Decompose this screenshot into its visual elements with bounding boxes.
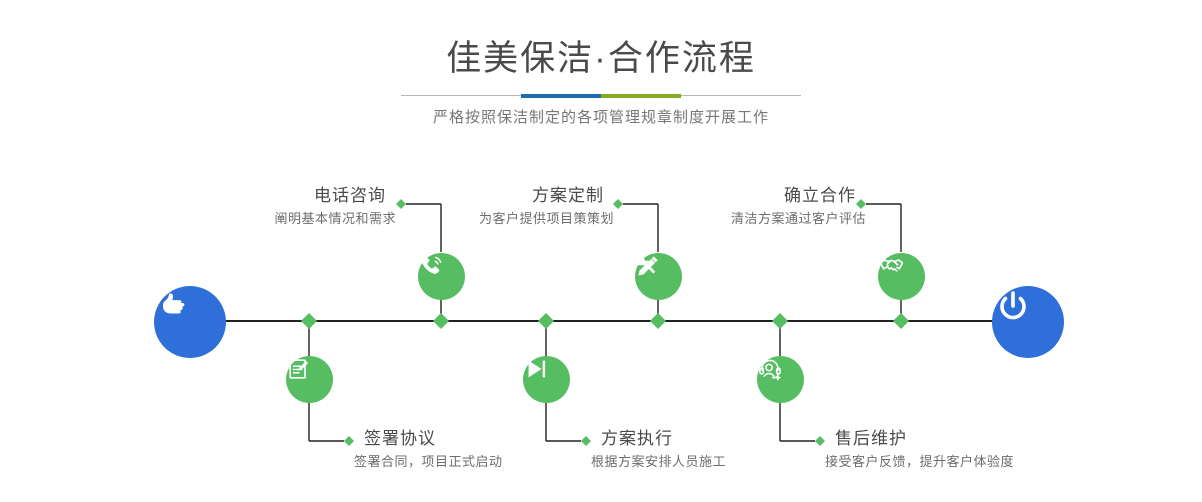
step-label-6: 售后维护 接受客户反馈，提升客户体验度 bbox=[825, 427, 1014, 473]
flow-start-node[interactable] bbox=[154, 286, 226, 358]
timeline-diamond-4 bbox=[538, 313, 554, 329]
step-label-2: 签署协议 签署合同，项目正式启动 bbox=[354, 427, 503, 473]
step-icon-1[interactable] bbox=[418, 253, 465, 300]
step-icon-3[interactable] bbox=[635, 253, 682, 300]
flow-end-node[interactable] bbox=[992, 286, 1064, 358]
step-title-3: 方案定制 bbox=[479, 184, 614, 208]
timeline-diamond-5 bbox=[893, 313, 909, 329]
step-label-4: 方案执行 根据方案安排人员施工 bbox=[591, 427, 726, 473]
step-desc-6: 接受客户反馈，提升客户体验度 bbox=[825, 451, 1014, 473]
timeline-diamond-6 bbox=[772, 313, 788, 329]
process-flow-diagram: 电话咨询 阐明基本情况和需求 签署协议 签署合同，项目正式启动 bbox=[0, 0, 1202, 502]
step-desc-5: 清洁方案通过客户评估 bbox=[731, 208, 866, 230]
label-diamond-step-2 bbox=[344, 436, 354, 446]
timeline-diamond-2 bbox=[301, 313, 317, 329]
step-title-6: 售后维护 bbox=[825, 427, 1014, 451]
timeline-diamond-1 bbox=[433, 313, 449, 329]
step-title-1: 电话咨询 bbox=[274, 184, 396, 208]
label-diamond-step-6 bbox=[815, 436, 825, 446]
step-label-5: 确立合作 清洁方案通过客户评估 bbox=[731, 184, 866, 230]
label-diamond-markers bbox=[344, 199, 866, 446]
step-desc-4: 根据方案安排人员施工 bbox=[591, 451, 726, 473]
step-title-5: 确立合作 bbox=[731, 184, 866, 208]
label-diamond-step-4 bbox=[581, 436, 591, 446]
timeline-diamond-3 bbox=[650, 313, 666, 329]
step-label-3: 方案定制 为客户提供项目策策划 bbox=[479, 184, 614, 230]
label-diamond-step-1 bbox=[396, 199, 406, 209]
step-desc-1: 阐明基本情况和需求 bbox=[274, 208, 396, 230]
step-icon-5[interactable] bbox=[878, 253, 925, 300]
step-icon-2[interactable] bbox=[286, 356, 333, 403]
step-desc-3: 为客户提供项目策策划 bbox=[479, 208, 614, 230]
step-icon-6[interactable] bbox=[757, 356, 804, 403]
step-icon-4[interactable] bbox=[523, 356, 570, 403]
label-diamond-step-3 bbox=[613, 199, 623, 209]
step-label-1: 电话咨询 阐明基本情况和需求 bbox=[274, 184, 396, 230]
step-title-4: 方案执行 bbox=[591, 427, 726, 451]
step-desc-2: 签署合同，项目正式启动 bbox=[354, 451, 503, 473]
step-title-2: 签署协议 bbox=[354, 427, 503, 451]
